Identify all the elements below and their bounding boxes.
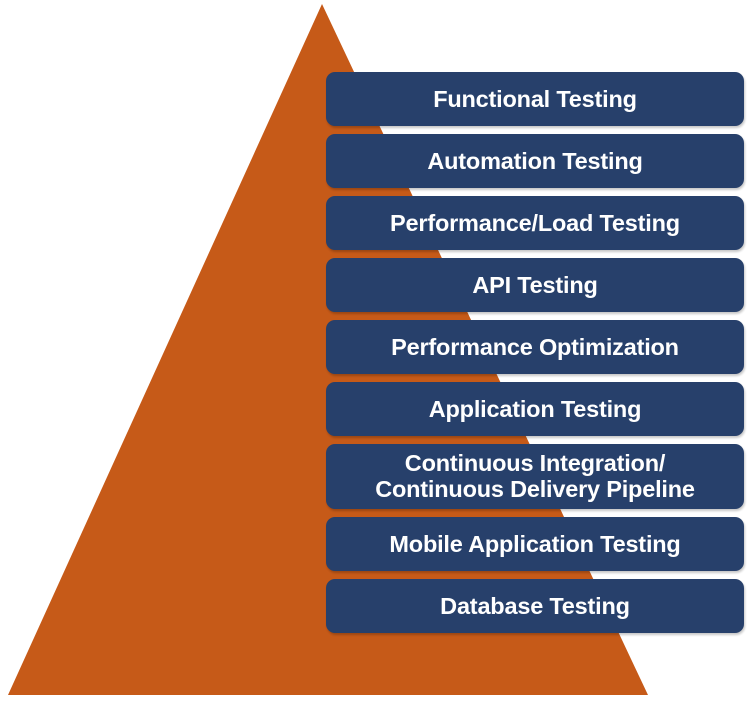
layer-label: Database Testing [336, 593, 734, 619]
pyramid-layer-application-testing[interactable]: Application Testing [326, 382, 744, 436]
layer-label: Mobile Application Testing [336, 531, 734, 557]
layer-label: Performance/Load Testing [336, 210, 734, 236]
pyramid-layer-performance-load-testing[interactable]: Performance/Load Testing [326, 196, 744, 250]
layer-label: Application Testing [336, 396, 734, 422]
pyramid-layer-automation-testing[interactable]: Automation Testing [326, 134, 744, 188]
layer-label: Continuous Integration/ Continuous Deliv… [336, 451, 734, 502]
pyramid-layer-performance-optimization[interactable]: Performance Optimization [326, 320, 744, 374]
pyramid-layer-api-testing[interactable]: API Testing [326, 258, 744, 312]
pyramid-layer-ci-cd-pipeline[interactable]: Continuous Integration/ Continuous Deliv… [326, 444, 744, 509]
layer-label: API Testing [336, 272, 734, 298]
pyramid-layer-stack: Functional Testing Automation Testing Pe… [326, 72, 744, 633]
layer-label: Automation Testing [336, 148, 734, 174]
pyramid-layer-mobile-application-testing[interactable]: Mobile Application Testing [326, 517, 744, 571]
layer-label: Functional Testing [336, 86, 734, 112]
pyramid-layer-database-testing[interactable]: Database Testing [326, 579, 744, 633]
pyramid-layer-functional-testing[interactable]: Functional Testing [326, 72, 744, 126]
layer-label: Performance Optimization [336, 334, 734, 360]
testing-pyramid-diagram: Functional Testing Automation Testing Pe… [0, 0, 751, 702]
